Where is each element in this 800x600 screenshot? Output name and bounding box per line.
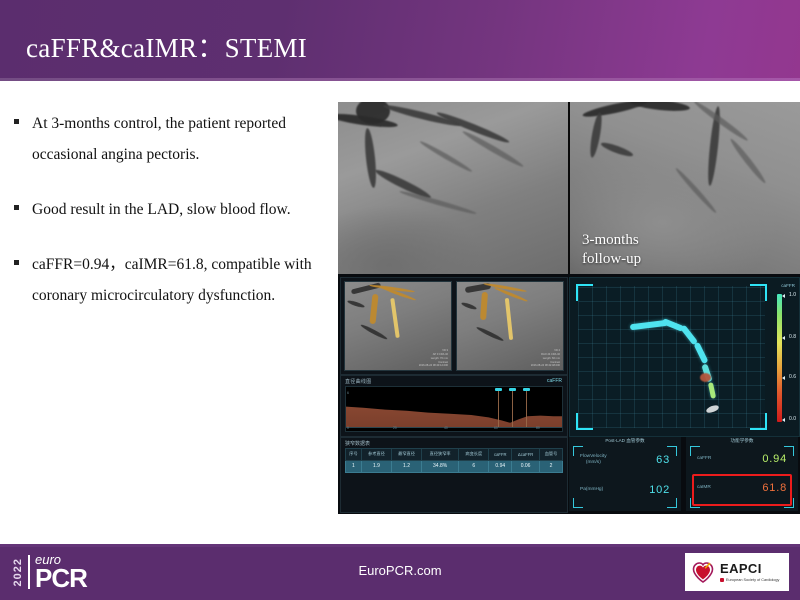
slide-footer: 2022 euro PCR EuroPCR.com EAPCI	[0, 544, 800, 600]
square-bullet-icon	[14, 205, 19, 210]
colorbar-tick: 0.0	[789, 416, 796, 422]
curve-marker-tab[interactable]	[523, 388, 530, 391]
viewer-corner-bracket-icon	[750, 413, 767, 430]
vessel-3d-viewer[interactable]: caFFR 1.0 0.8 0.6 0.0	[569, 277, 800, 437]
curve-panel-label: 直径曲线图	[345, 378, 372, 385]
table-cell: 1	[346, 460, 362, 472]
caffr-colorbar	[777, 294, 782, 422]
colorbar-tick: 1.0	[789, 292, 796, 298]
colorbar-title: caFFR	[781, 283, 795, 288]
eapci-subtitle: European Society of Cardiology	[720, 578, 779, 582]
table-cell: 1.9	[361, 460, 391, 472]
pa-pressure-value: 102	[649, 484, 670, 496]
viewer-corner-bracket-icon	[576, 413, 593, 430]
lesion-marker	[700, 373, 711, 382]
viewer-corner-bracket-icon	[750, 284, 767, 301]
square-bullet-icon	[14, 260, 19, 265]
curve-caffr-tag: caFFR	[547, 378, 562, 384]
function-box-title: 功能学参数	[686, 438, 798, 444]
result-boxes: Post-LAD 血管参数 FlowVelocity (mm/s) 63	[569, 437, 798, 511]
caffr-console: VD 3 AP 0 CRA 32 Length: 70 mm Contrast …	[338, 274, 800, 514]
slide: caFFR&caIMR：STEMI At 3-months control, t…	[0, 0, 800, 600]
list-item: caFFR=0.94，caIMR=61.8, compatible with c…	[14, 249, 334, 311]
curve-x-tick: 60	[494, 426, 498, 430]
flow-velocity-label: FlowVelocity (mm/s)	[580, 454, 607, 466]
footer-website-text: EuroPCR.com	[0, 563, 800, 578]
table-cell: 34.8%	[422, 460, 459, 472]
caffr-row: caFFR 0.94	[697, 453, 787, 465]
viewer-corner-bracket-icon	[576, 284, 593, 301]
angiogram-followup: 3-months follow-up	[568, 102, 800, 274]
table-cell: 0.06	[512, 460, 540, 472]
list-item: At 3-months control, the patient reporte…	[14, 108, 334, 170]
angiogram-baseline	[338, 102, 568, 274]
eapci-name: EAPCI	[720, 562, 779, 575]
corner-bracket-icon	[573, 498, 583, 508]
curve-y-tick: 6	[347, 391, 349, 395]
header-divider	[0, 78, 800, 81]
curve-diameter-area	[346, 397, 562, 427]
caimr-row: caIMR 61.8	[697, 482, 787, 494]
colorbar-tick-label: 0.0	[789, 416, 796, 422]
curve-marker-distal[interactable]	[526, 389, 527, 427]
caimr-label: caIMR	[697, 485, 711, 491]
page-title: caFFR&caIMR：STEMI	[26, 26, 307, 65]
corner-bracket-icon	[667, 498, 677, 508]
footer-top-strip	[0, 544, 800, 547]
table-header-cell: ΔcaFFR	[512, 449, 540, 461]
curve-x-tick: 0	[347, 426, 349, 430]
table-header-cell: 参考直径	[361, 449, 391, 461]
function-box-frame: caFFR 0.94 caIMR 61.8	[690, 446, 794, 508]
diameter-curve-panel: 直径曲线图 caFFR 6 3 0	[340, 375, 568, 437]
reconstruction-thumb-left[interactable]: VD 3 AP 0 CRA 32 Length: 70 mm Contrast …	[344, 281, 452, 371]
table-cell: 0.94	[489, 460, 512, 472]
caimr-value: 61.8	[762, 482, 787, 494]
table-row[interactable]: 1 1.9 1.2 34.8% 6 0.94 0.06 2	[346, 460, 563, 472]
table-header-cell: caFFR	[489, 449, 512, 461]
angiogram-row: 3-months follow-up	[338, 102, 800, 274]
colorbar-tick: 0.6	[789, 374, 796, 380]
caffr-label: caFFR	[697, 456, 711, 462]
curve-x-ticks: 0 20 40 60 80	[346, 426, 562, 432]
table-header-cell: 直径狭窄率	[422, 449, 459, 461]
caffr-value: 0.94	[762, 453, 787, 465]
curve-marker-tab[interactable]	[509, 388, 516, 391]
curve-x-tick: 80	[536, 426, 540, 430]
list-item: Good result in the LAD, slow blood flow.	[14, 194, 334, 225]
stenosis-table: 序号 参考直径 最窄直径 直径狭窄率 病变长度 caFFR ΔcaFFR 血管号	[345, 448, 563, 473]
curve-marker-proximal[interactable]	[498, 389, 499, 427]
table-cell: 1.2	[391, 460, 421, 472]
table-cell: 6	[459, 460, 489, 472]
eapci-logo: EAPCI European Society of Cardiology	[685, 553, 789, 591]
table-header-cell: 序号	[346, 449, 362, 461]
table-header-cell: 最窄直径	[391, 449, 421, 461]
viewer-grid	[578, 286, 765, 428]
curve-marker-mid[interactable]	[512, 389, 513, 427]
vessel-reconstruction-panel: VD 3 AP 0 CRA 32 Length: 70 mm Contrast …	[340, 277, 568, 375]
heart-icon	[691, 561, 715, 583]
flow-velocity-row: FlowVelocity (mm/s) 63	[580, 454, 670, 466]
vessel-parameters-box: Post-LAD 血管参数 FlowVelocity (mm/s) 63	[569, 437, 681, 511]
colorbar-tick-label: 0.6	[789, 374, 796, 380]
table-panel-label: 狭窄数据表	[345, 440, 370, 447]
colorbar-tick-label: 1.0	[789, 292, 796, 298]
stenosis-table-panel: 狭窄数据表 序号 参考直径 最窄直径 直径狭窄率 病变长度 caFFR ΔcaF…	[340, 437, 568, 513]
thumb-right-metadata: VD 4 RAO 24 CRA 32 Length: 66 mm Contras…	[531, 349, 560, 368]
table-header-row: 序号 参考直径 最窄直径 直径狭窄率 病变长度 caFFR ΔcaFFR 血管号	[346, 449, 563, 461]
pa-pressure-row: Pa(mmHg) 102	[580, 484, 670, 496]
followup-line-2: follow-up	[582, 250, 641, 268]
curve-x-tick: 40	[444, 426, 448, 430]
table-cell: 2	[539, 460, 562, 472]
table-header-cell: 病变长度	[459, 449, 489, 461]
curve-plot-area[interactable]: 6 3 0 0 20 40 60	[345, 386, 563, 432]
square-bullet-icon	[14, 119, 19, 124]
bullet-text: caFFR=0.94，caIMR=61.8, compatible with c…	[32, 249, 334, 311]
colorbar-tick-label: 0.8	[789, 334, 796, 340]
curve-x-tick: 20	[393, 426, 397, 430]
angiography-media-block: 3-months follow-up V	[338, 102, 800, 514]
bullet-text: Good result in the LAD, slow blood flow.	[32, 194, 291, 225]
vessel-box-frame: FlowVelocity (mm/s) 63 Pa(mmHg) 102	[573, 446, 677, 508]
followup-overlay-label: 3-months follow-up	[582, 231, 641, 268]
curve-marker-tab[interactable]	[495, 388, 502, 391]
slide-header: caFFR&caIMR：STEMI	[0, 0, 800, 78]
flow-velocity-value: 63	[656, 454, 670, 466]
bullet-list: At 3-months control, the patient reporte…	[14, 108, 334, 335]
pa-pressure-label: Pa(mmHg)	[580, 487, 603, 493]
vessel-box-title: Post-LAD 血管参数	[569, 438, 681, 444]
thumb-left-metadata: VD 3 AP 0 CRA 32 Length: 70 mm Contrast …	[419, 349, 448, 368]
table-header-cell: 血管号	[539, 449, 562, 461]
reconstruction-thumb-right[interactable]: VD 4 RAO 24 CRA 32 Length: 66 mm Contras…	[456, 281, 564, 371]
colorbar-tick: 0.8	[789, 334, 796, 340]
bullet-text: At 3-months control, the patient reporte…	[32, 108, 334, 170]
function-parameters-box: 功能学参数 caFFR 0.94 caIMR 61.8	[686, 437, 798, 511]
esc-dot-icon	[720, 578, 724, 582]
followup-line-1: 3-months	[582, 231, 641, 249]
